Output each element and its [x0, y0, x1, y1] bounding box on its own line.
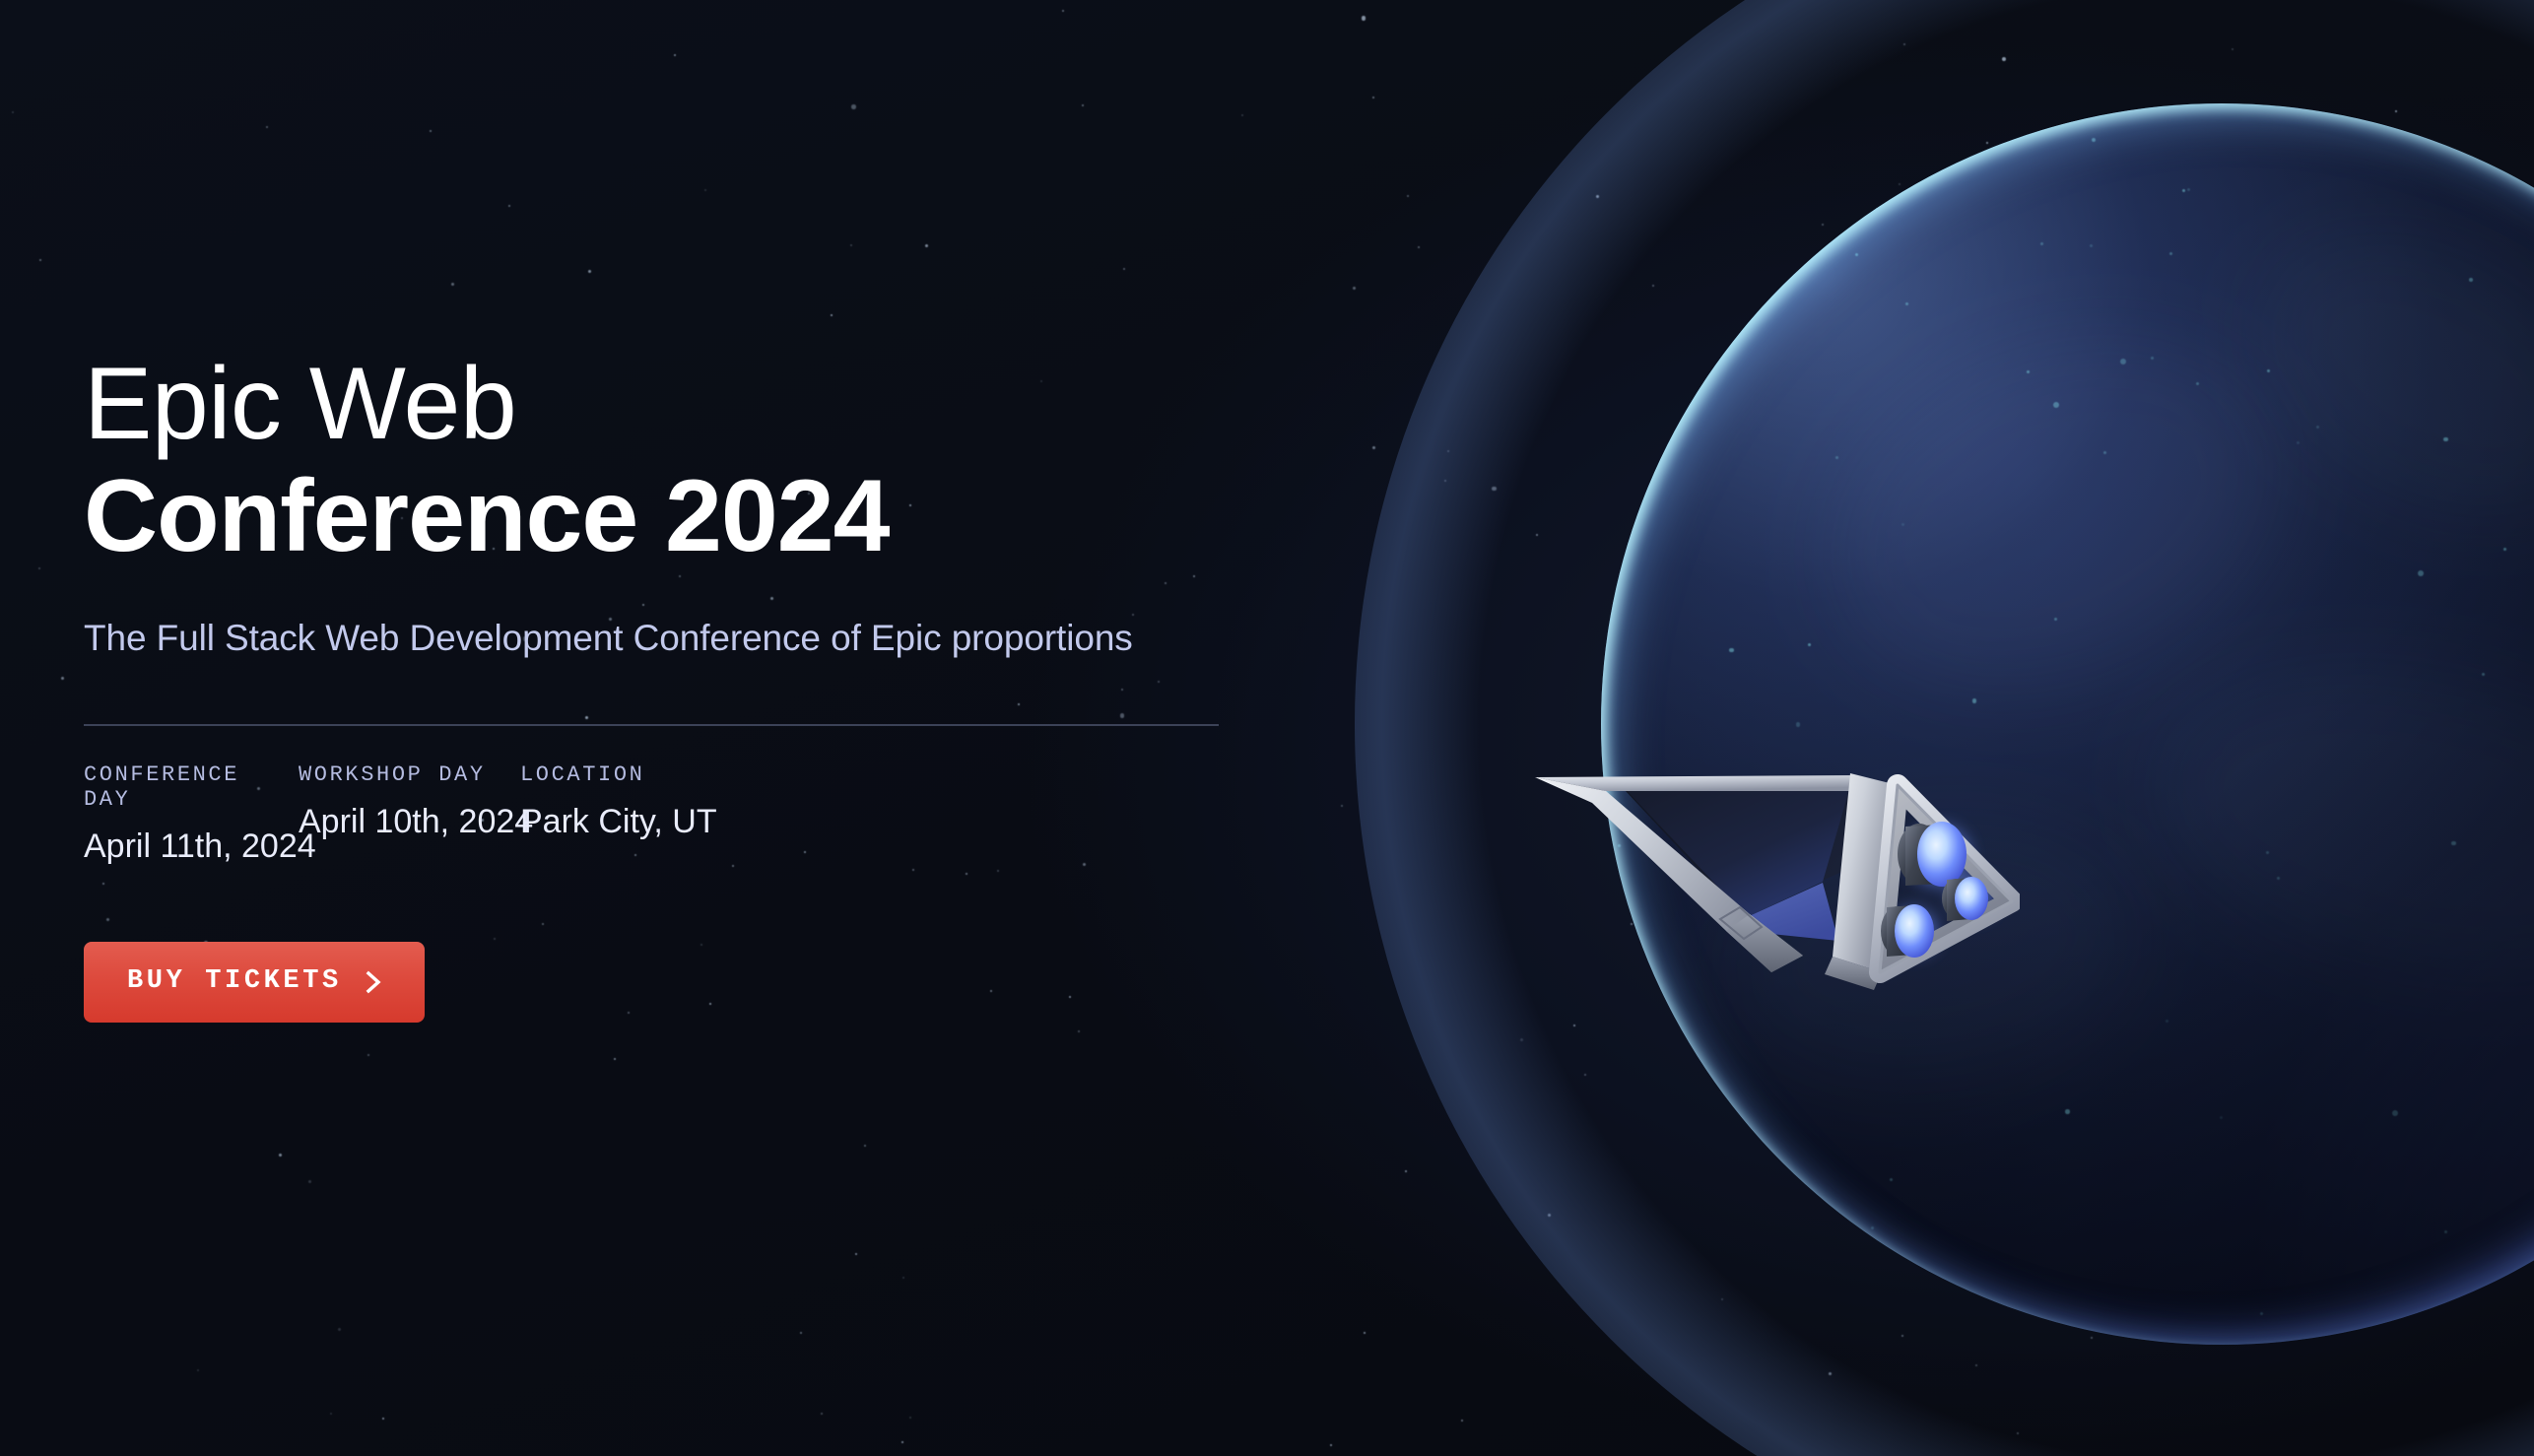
- detail-value: April 11th, 2024: [84, 827, 299, 866]
- planet-body: [1601, 103, 2534, 1345]
- hero-content: Epic Web Conference 2024 The Full Stack …: [84, 350, 1365, 1023]
- planet-rim-glow: [1567, 70, 2534, 1378]
- headline-line-1: Epic Web: [84, 350, 1365, 458]
- page-title: Epic Web Conference 2024: [84, 350, 1365, 575]
- detail-value: April 10th, 2024: [299, 803, 520, 841]
- hero-section: Epic Web Conference 2024 The Full Stack …: [0, 0, 2534, 1456]
- thruster: [1898, 822, 1967, 887]
- buy-tickets-label: BUY TICKETS: [127, 968, 342, 995]
- spaceship: [1507, 744, 2020, 1044]
- thruster: [1942, 877, 1988, 921]
- planet-atmosphere-glow: [1483, 0, 2534, 1456]
- detail-label: CONFERENCE DAY: [84, 762, 299, 812]
- planet-terminator-shadow: [1601, 103, 2534, 1345]
- headline-line-2: Conference 2024: [84, 458, 1365, 575]
- detail-label: LOCATION: [520, 762, 717, 787]
- planet-starfield: [1601, 103, 2534, 1345]
- detail-value: Park City, UT: [520, 803, 717, 841]
- buy-tickets-button[interactable]: BUY TICKETS: [84, 942, 425, 1023]
- chevron-right-icon: [364, 968, 383, 996]
- hero-subtitle: The Full Stack Web Development Conferenc…: [84, 618, 1365, 659]
- detail-location: LOCATION Park City, UT: [520, 762, 717, 866]
- divider: [84, 724, 1219, 726]
- detail-label: WORKSHOP DAY: [299, 762, 520, 787]
- planet-rim-light: [1601, 103, 2534, 1345]
- detail-workshop-day: WORKSHOP DAY April 10th, 2024: [299, 762, 520, 866]
- detail-conference-day: CONFERENCE DAY April 11th, 2024: [84, 762, 299, 866]
- thruster: [1881, 904, 1934, 958]
- planet: [1601, 103, 2534, 1345]
- event-details: CONFERENCE DAY April 11th, 2024 WORKSHOP…: [84, 762, 1365, 866]
